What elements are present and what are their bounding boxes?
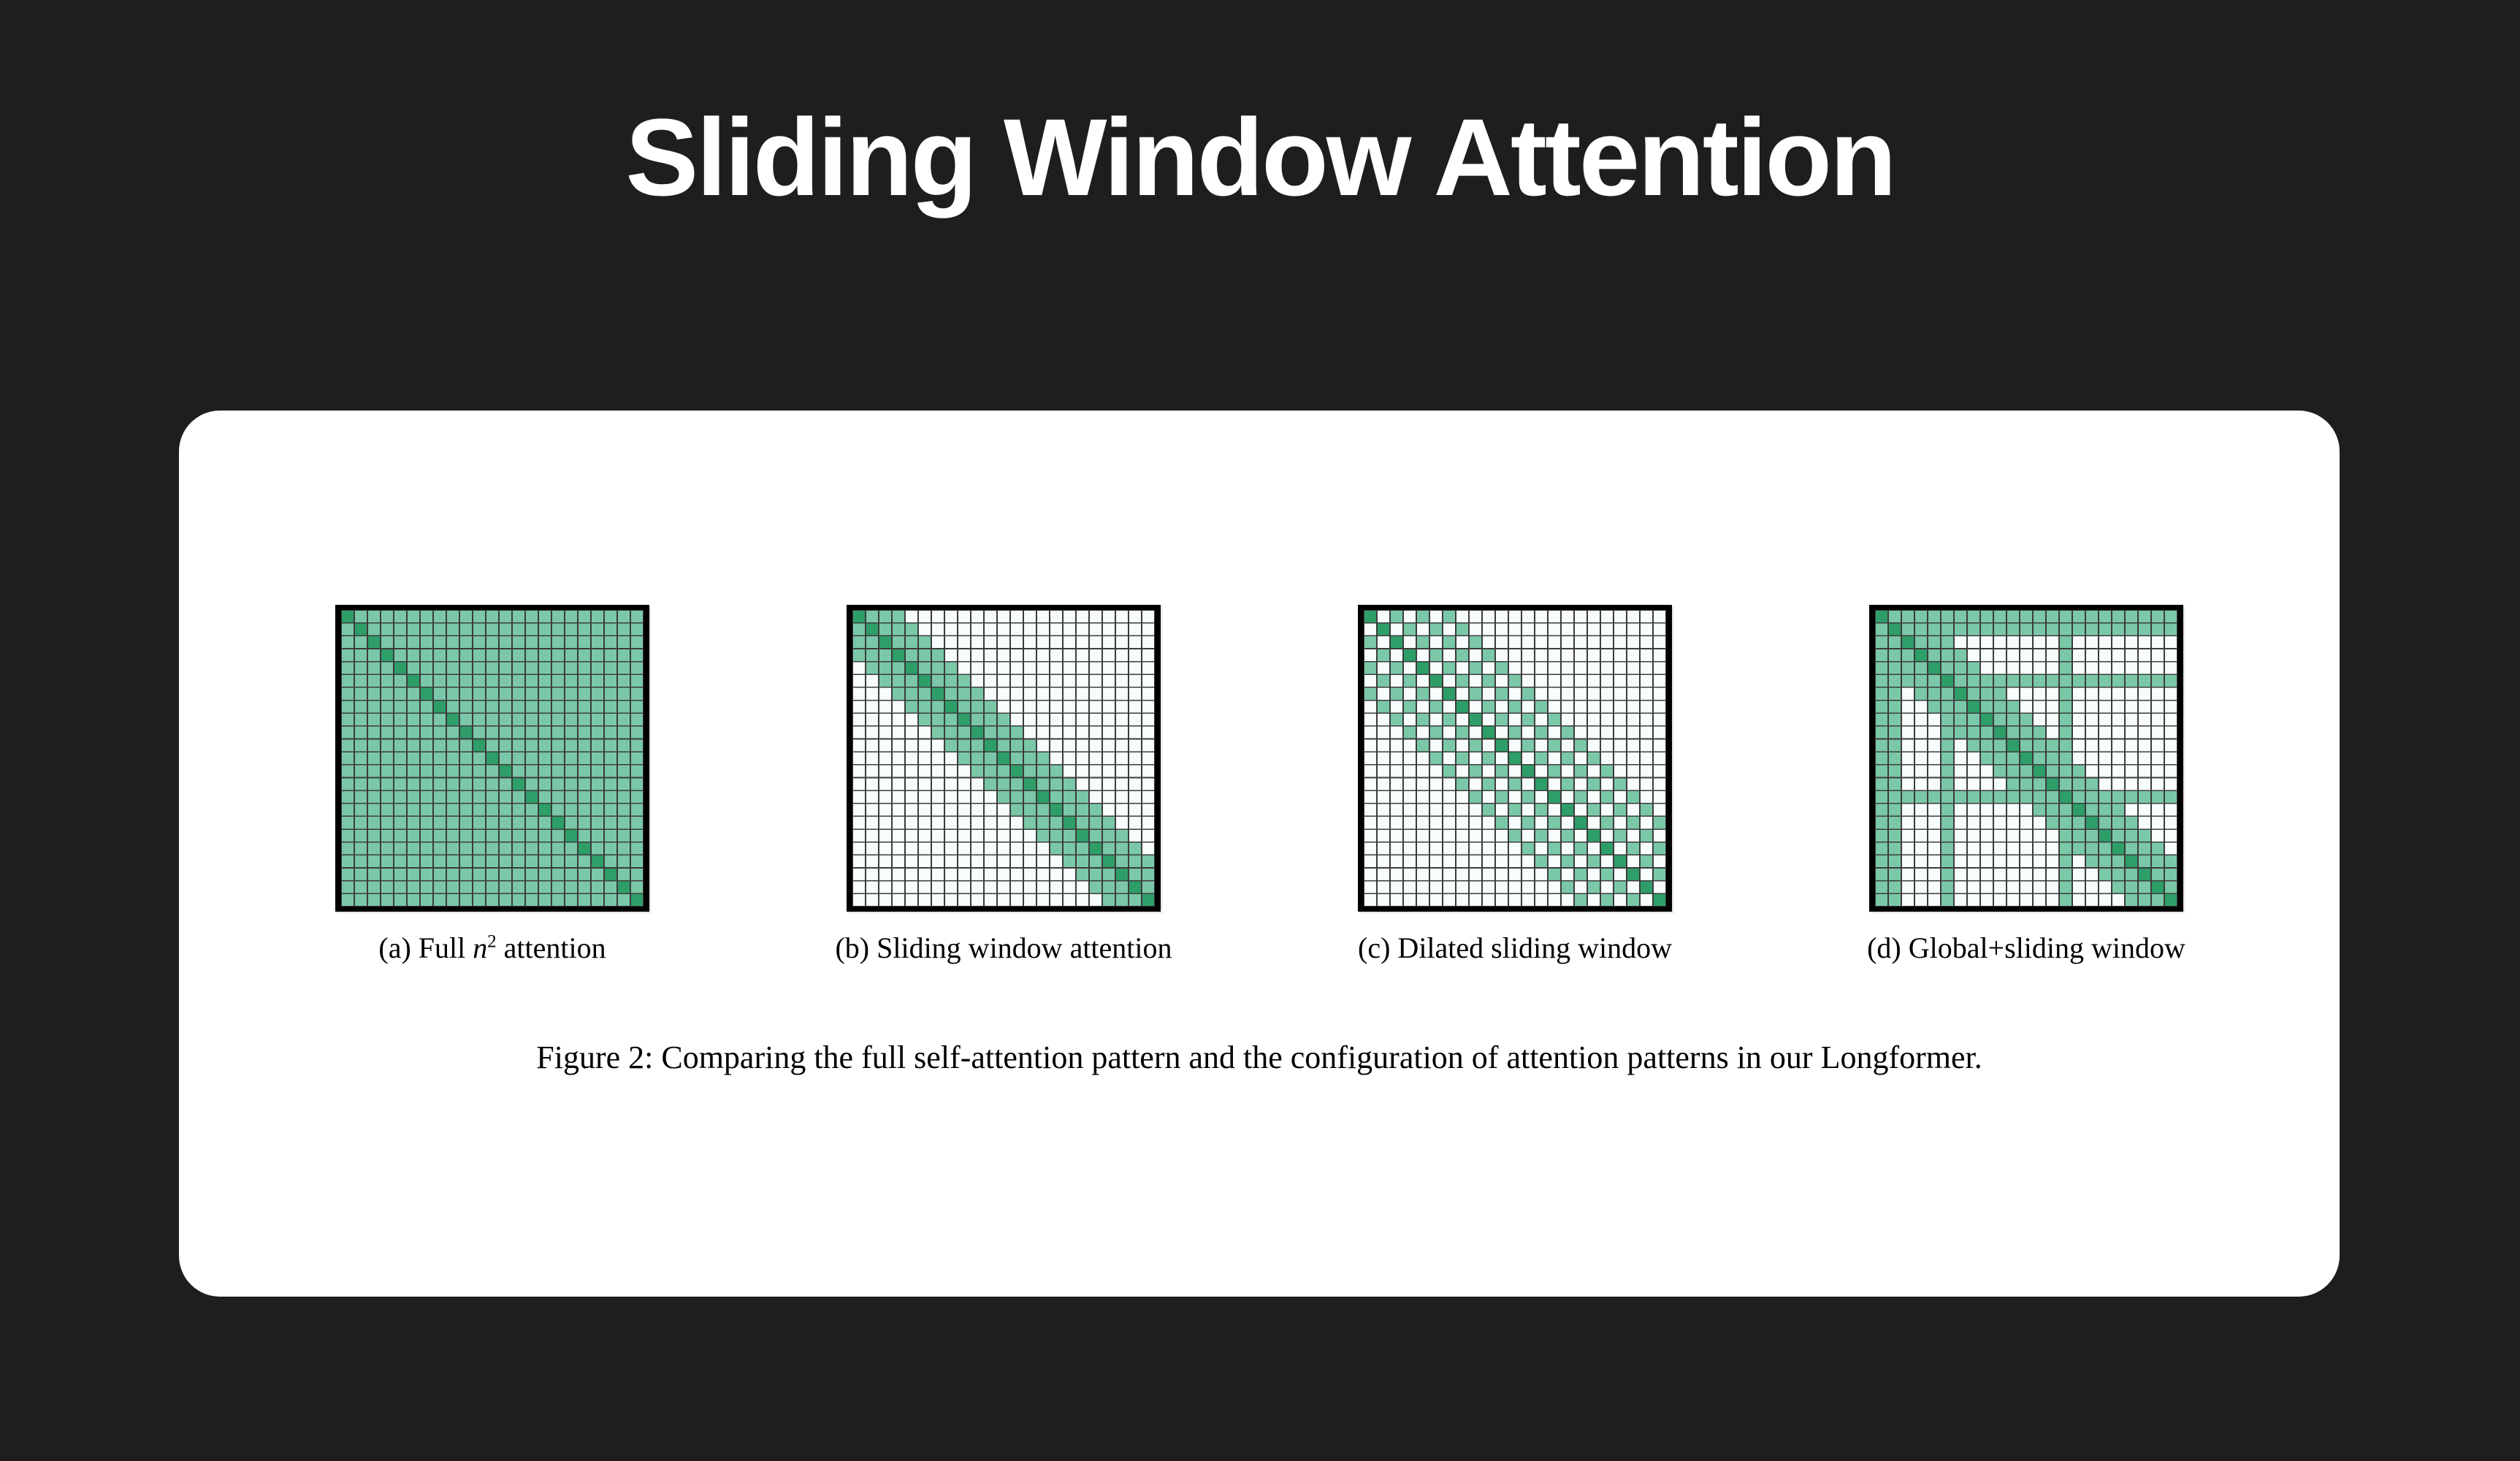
figure-caption: Figure 2: Comparing the full self-attent… [179, 1039, 2340, 1076]
panel-caption-c: (c) Dilated sliding window [1358, 932, 1672, 964]
panel-caption-d: (d) Global+sliding window [1867, 932, 2185, 964]
panel-full-attention: (a) Full n2 attention [237, 605, 748, 964]
panel-caption-a-suffix: attention [497, 931, 606, 964]
attention-matrix-d [1869, 605, 2183, 912]
panel-caption-d-text: (d) Global+sliding window [1867, 931, 2185, 964]
panel-caption-a-math: n [473, 931, 487, 964]
attention-matrix-c-svg [1364, 610, 1666, 907]
slide-canvas: Sliding Window Attention (a) Full n2 att… [0, 0, 2520, 1461]
attention-matrix-a-svg [341, 610, 644, 907]
attention-panels-row: (a) Full n2 attention (b) Sliding window… [179, 605, 2340, 955]
panel-global-sliding-window: (d) Global+sliding window [1771, 605, 2282, 964]
panel-sliding-window: (b) Sliding window attention [748, 605, 1259, 964]
attention-matrix-a [335, 605, 649, 912]
panel-dilated-sliding-window: (c) Dilated sliding window [1259, 605, 1771, 964]
figure-card: (a) Full n2 attention (b) Sliding window… [179, 411, 2340, 1297]
attention-matrix-b [847, 605, 1161, 912]
panel-caption-c-text: (c) Dilated sliding window [1358, 931, 1672, 964]
page-title: Sliding Window Attention [0, 102, 2520, 212]
panel-caption-b-text: (b) Sliding window attention [835, 931, 1172, 964]
attention-matrix-b-svg [852, 610, 1155, 907]
panel-caption-a: (a) Full n2 attention [378, 932, 606, 964]
attention-matrix-d-svg [1875, 610, 2177, 907]
panel-caption-b: (b) Sliding window attention [835, 932, 1172, 964]
panel-caption-a-prefix: (a) Full [378, 931, 473, 964]
attention-matrix-c [1358, 605, 1672, 912]
panel-caption-a-exponent: 2 [487, 932, 496, 952]
